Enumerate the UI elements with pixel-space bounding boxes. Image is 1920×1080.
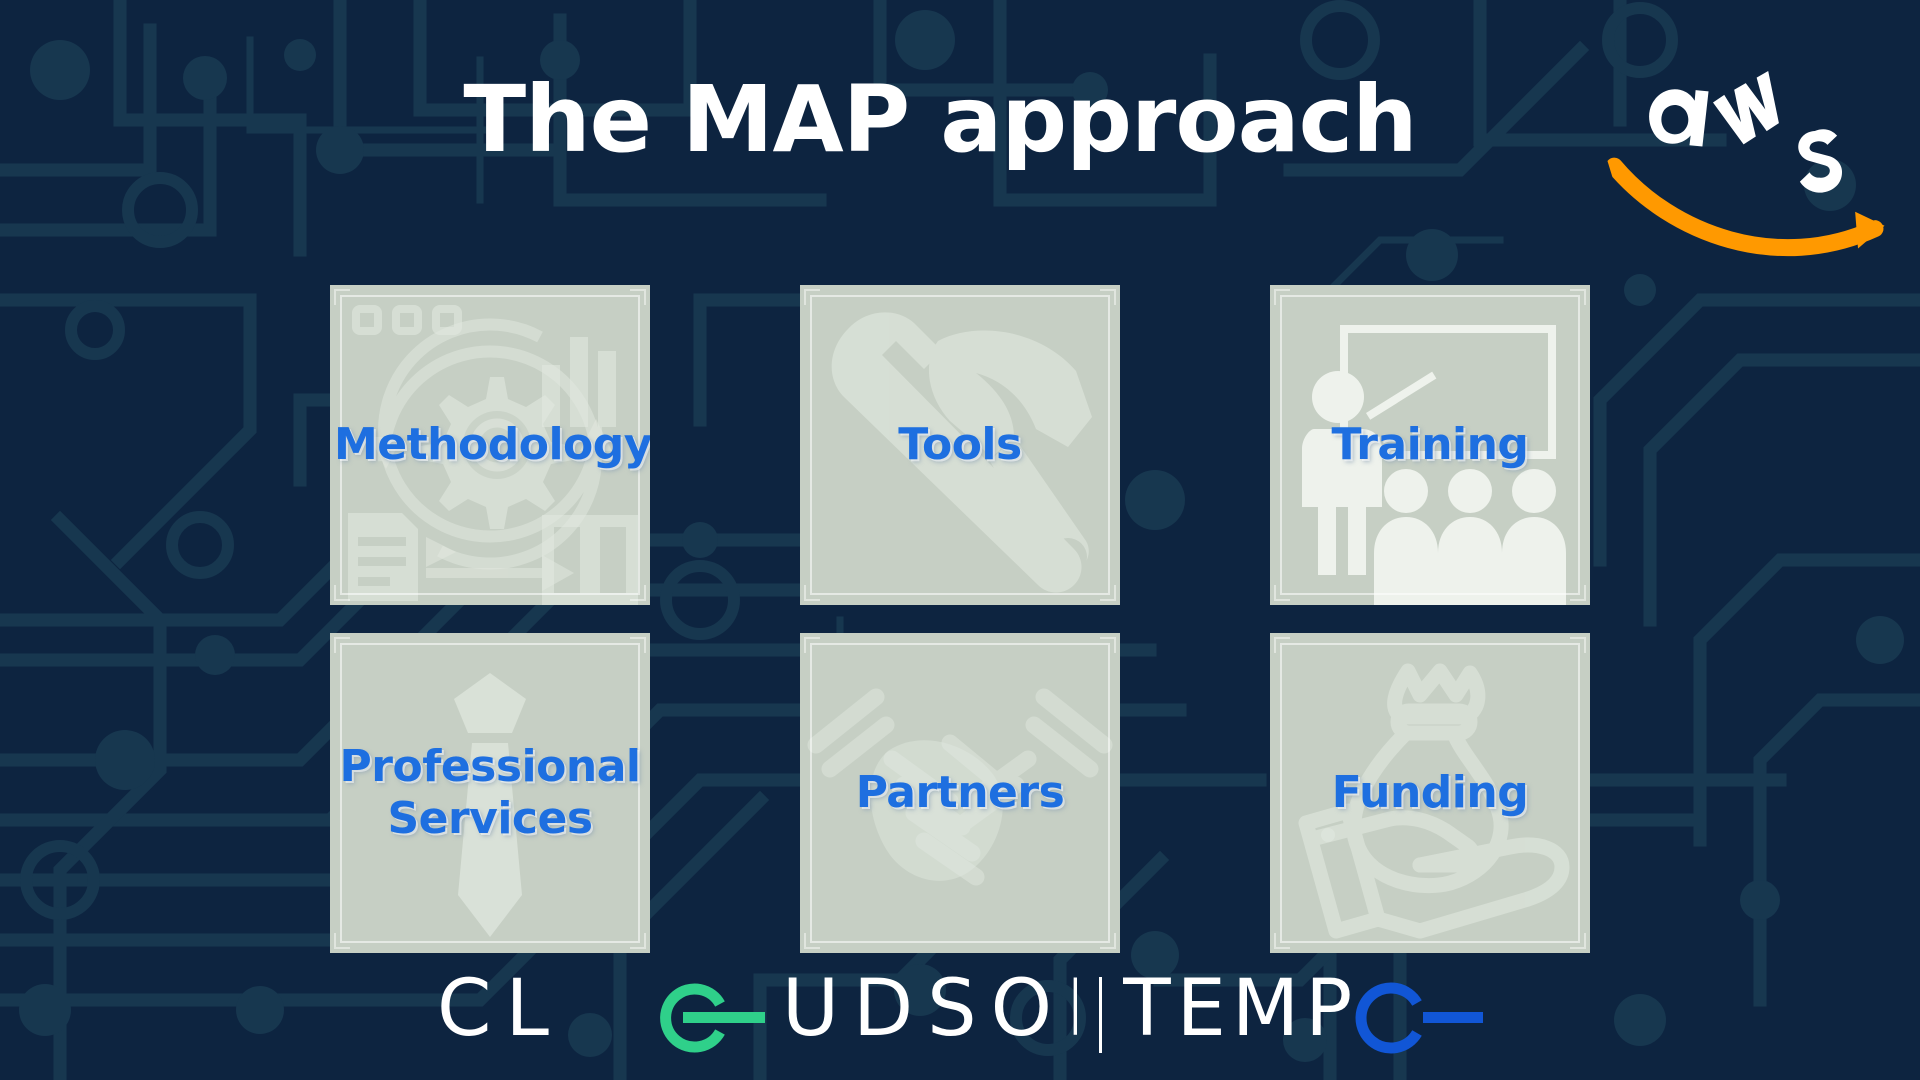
card-funding[interactable]: Funding	[1270, 633, 1590, 953]
corner-mark-bl	[1274, 585, 1290, 601]
cloudsoft-o-mark	[666, 989, 765, 1047]
card-partners[interactable]: Partners	[800, 633, 1120, 953]
footer-logos: CL UDSOFT TEMP	[0, 960, 1920, 1070]
corner-mark-tr	[1100, 289, 1116, 305]
corner-mark-tr	[1100, 637, 1116, 653]
card-label-professional-services: Professional Services	[330, 741, 650, 845]
card-grid: Methodology Tools	[330, 285, 1590, 953]
corner-mark-tr	[1570, 289, 1586, 305]
card-label-tools: Tools	[800, 419, 1120, 471]
tempo-o-mark	[1361, 988, 1483, 1048]
card-professional-services[interactable]: Professional Services	[330, 633, 650, 953]
corner-mark-tl	[804, 637, 820, 653]
corner-mark-tl	[334, 289, 350, 305]
corner-mark-br	[1100, 933, 1116, 949]
cloudsoft-wordmark-part2: UDSOFT	[782, 965, 1077, 1054]
corner-mark-tl	[804, 289, 820, 305]
corner-mark-tr	[630, 637, 646, 653]
card-label-methodology: Methodology	[330, 419, 650, 471]
corner-mark-bl	[1274, 933, 1290, 949]
corner-mark-br	[1570, 933, 1586, 949]
tempo-logo: TEMP	[1123, 965, 1483, 1065]
card-label-partners: Partners	[800, 767, 1120, 819]
corner-mark-br	[1100, 585, 1116, 601]
corner-mark-br	[630, 585, 646, 601]
corner-mark-br	[1570, 585, 1586, 601]
logo-divider	[1077, 965, 1123, 1065]
corner-mark-bl	[804, 585, 820, 601]
card-methodology[interactable]: Methodology	[330, 285, 650, 605]
corner-mark-br	[630, 933, 646, 949]
cloudsoft-wordmark-part1: CL	[437, 965, 563, 1054]
card-label-training: Training	[1270, 419, 1590, 471]
card-label-funding: Funding	[1270, 767, 1590, 819]
corner-mark-tl	[1274, 637, 1290, 653]
corner-mark-bl	[334, 933, 350, 949]
corner-mark-tl	[334, 637, 350, 653]
corner-mark-tl	[1274, 289, 1290, 305]
card-tools[interactable]: Tools	[800, 285, 1120, 605]
corner-mark-tr	[1570, 637, 1586, 653]
tempo-wordmark: TEMP	[1123, 965, 1358, 1054]
cloudsoft-logo: CL UDSOFT	[437, 965, 1077, 1065]
corner-mark-bl	[804, 933, 820, 949]
corner-mark-tr	[630, 289, 646, 305]
card-training[interactable]: Training	[1270, 285, 1590, 605]
corner-mark-bl	[334, 585, 350, 601]
